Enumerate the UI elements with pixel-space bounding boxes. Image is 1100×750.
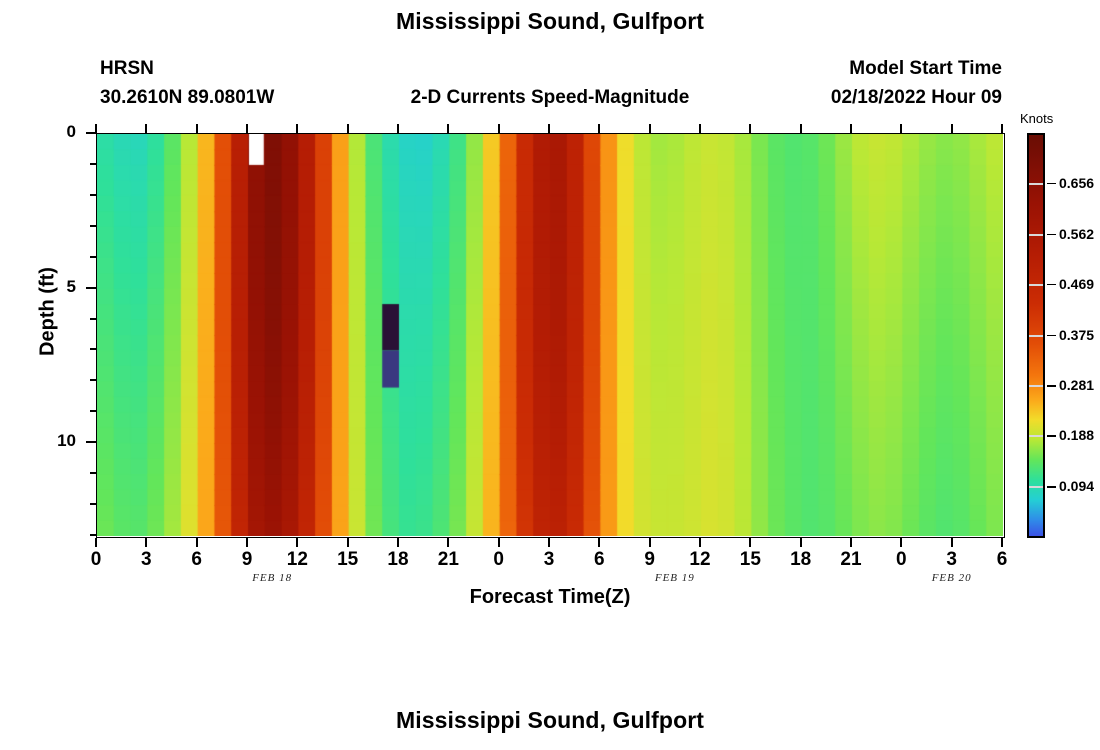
y-tick-label: 10 [30, 431, 76, 451]
colorbar-tick [1047, 486, 1056, 488]
x-tick-major [145, 538, 147, 547]
y-tick-minor [90, 503, 96, 505]
colorbar-tick-label: 0.188 [1059, 427, 1094, 443]
x-tick-top [900, 124, 902, 133]
y-tick-label: 5 [30, 277, 76, 297]
y-tick-minor [90, 256, 96, 258]
x-tick-label: 18 [781, 549, 821, 571]
colorbar-gridline [1029, 183, 1043, 185]
x-tick-label: 0 [881, 549, 921, 571]
x-tick-top [749, 124, 751, 133]
x-tick-top [296, 124, 298, 133]
x-tick-major [296, 538, 298, 547]
y-tick-minor [90, 348, 96, 350]
x-tick-top [246, 124, 248, 133]
y-tick-minor [90, 410, 96, 412]
colorbar-tick [1047, 335, 1056, 337]
x-tick-top [447, 124, 449, 133]
x-tick-major [447, 538, 449, 547]
x-tick-major [951, 538, 953, 547]
x-tick-label: 6 [177, 549, 217, 571]
x-tick-label: 0 [479, 549, 519, 571]
x-tick-major [649, 538, 651, 547]
colorbar-tick-label: 0.094 [1059, 478, 1094, 494]
y-axis-title: Depth (ft) [37, 242, 60, 382]
x-tick-top [397, 124, 399, 133]
x-tick-major [749, 538, 751, 547]
colorbar-gridline [1029, 234, 1043, 236]
x-axis-title: Forecast Time(Z) [0, 586, 1100, 609]
colorbar-tick [1047, 435, 1056, 437]
x-tick-top [1001, 124, 1003, 133]
x-tick-label: 6 [579, 549, 619, 571]
x-tick-top [145, 124, 147, 133]
y-tick-minor [90, 472, 96, 474]
y-tick-major [86, 441, 96, 443]
x-tick-major [95, 538, 97, 547]
x-tick-top [598, 124, 600, 133]
x-tick-major [699, 538, 701, 547]
x-tick-label: 6 [982, 549, 1022, 571]
y-tick-minor [90, 379, 96, 381]
x-axis-date-label: FEB 18 [227, 572, 317, 584]
x-tick-major [246, 538, 248, 547]
y-tick-minor [90, 225, 96, 227]
x-tick-top [498, 124, 500, 133]
x-axis-date-label: FEB 19 [630, 572, 720, 584]
heatmap-plot-area [96, 133, 1005, 538]
x-tick-major [850, 538, 852, 547]
y-tick-minor [90, 194, 96, 196]
x-tick-label: 12 [680, 549, 720, 571]
y-tick-major [86, 287, 96, 289]
x-tick-label: 18 [378, 549, 418, 571]
x-axis-date-label: FEB 20 [907, 572, 997, 584]
colorbar-tick-label: 0.375 [1059, 327, 1094, 343]
y-tick-minor [90, 534, 96, 536]
x-tick-top [196, 124, 198, 133]
colorbar-tick-label: 0.469 [1059, 276, 1094, 292]
heatmap-canvas [97, 134, 1003, 536]
x-tick-label: 0 [76, 549, 116, 571]
y-tick-label: 0 [30, 122, 76, 142]
x-tick-label: 9 [630, 549, 670, 571]
x-tick-top [800, 124, 802, 133]
colorbar-tick-label: 0.656 [1059, 175, 1094, 191]
colorbar-tick [1047, 385, 1056, 387]
x-tick-label: 3 [126, 549, 166, 571]
colorbar-tick-label: 0.281 [1059, 377, 1094, 393]
page-title: Mississippi Sound, Gulfport [0, 8, 1100, 35]
y-tick-minor [90, 163, 96, 165]
x-tick-label: 21 [428, 549, 468, 571]
x-tick-top [951, 124, 953, 133]
x-tick-major [347, 538, 349, 547]
station-id-label: HRSN [100, 58, 154, 80]
colorbar-tick [1047, 284, 1056, 286]
x-tick-major [196, 538, 198, 547]
x-tick-major [548, 538, 550, 547]
colorbar-gridline [1029, 385, 1043, 387]
colorbar-unit-label: Knots [1020, 111, 1053, 126]
x-tick-major [800, 538, 802, 547]
colorbar-tick-label: 0.562 [1059, 226, 1094, 242]
x-tick-major [397, 538, 399, 547]
x-tick-major [598, 538, 600, 547]
x-tick-label: 15 [730, 549, 770, 571]
model-start-time-label: Model Start Time [849, 58, 1002, 80]
x-tick-major [900, 538, 902, 547]
x-tick-top [850, 124, 852, 133]
footer-title: Mississippi Sound, Gulfport [0, 707, 1100, 734]
x-tick-major [498, 538, 500, 547]
colorbar-gridline [1029, 335, 1043, 337]
x-tick-label: 3 [529, 549, 569, 571]
x-tick-top [699, 124, 701, 133]
colorbar-gridline [1029, 435, 1043, 437]
colorbar-tick [1047, 234, 1056, 236]
model-start-time-value: 02/18/2022 Hour 09 [831, 87, 1002, 109]
colorbar-tick [1047, 183, 1056, 185]
x-tick-top [95, 124, 97, 133]
x-tick-top [548, 124, 550, 133]
x-tick-label: 21 [831, 549, 871, 571]
colorbar-gridline [1029, 284, 1043, 286]
x-tick-label: 15 [328, 549, 368, 571]
x-tick-top [347, 124, 349, 133]
colorbar-gridline [1029, 486, 1043, 488]
x-tick-label: 9 [227, 549, 267, 571]
x-tick-top [649, 124, 651, 133]
x-tick-major [1001, 538, 1003, 547]
x-tick-label: 3 [932, 549, 972, 571]
y-tick-minor [90, 318, 96, 320]
x-tick-label: 12 [277, 549, 317, 571]
